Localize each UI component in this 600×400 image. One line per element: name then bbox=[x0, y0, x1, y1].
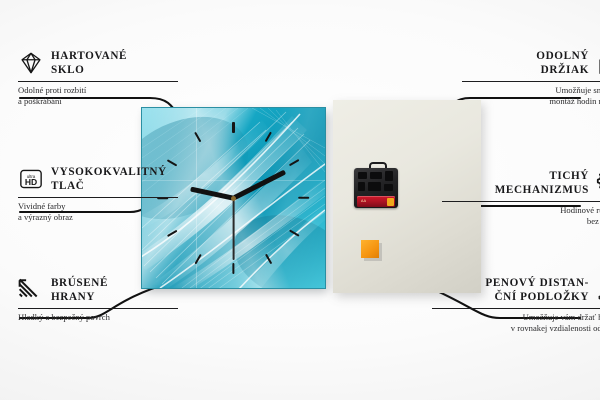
clock-mechanism: AA bbox=[354, 162, 398, 208]
feature-description: Hodinové ručičky bez zvuku bbox=[442, 205, 600, 228]
foam-pad-icon bbox=[596, 277, 600, 303]
battery-label: AA bbox=[361, 199, 366, 203]
beveled-edge-icon bbox=[18, 277, 44, 303]
mechanism-slot bbox=[370, 172, 382, 179]
picture-hanger-icon bbox=[596, 50, 600, 76]
divider bbox=[462, 81, 600, 82]
feature-durable-hanger: ODOLNÝ DRŽIAK Umožňuje snadnou montáž ho… bbox=[462, 50, 600, 108]
infographic-canvas: AA HARTOVANÉ SKLO bbox=[0, 0, 600, 400]
feature-title: VYSOKOKVALITNÝ TLAČ bbox=[51, 166, 167, 193]
divider bbox=[18, 308, 178, 309]
feature-description: Hladký a bezpečný povrch bbox=[18, 312, 178, 323]
divider bbox=[442, 201, 600, 202]
divider bbox=[432, 308, 600, 309]
feature-description: Umožňuje snadnou montáž hodin na zeď bbox=[462, 85, 600, 108]
diamond-icon bbox=[18, 50, 44, 76]
mechanism-slot bbox=[385, 171, 393, 181]
foam-spacer-pad bbox=[361, 240, 379, 258]
mechanism-slot bbox=[358, 182, 365, 191]
mechanism-housing: AA bbox=[354, 168, 398, 208]
feature-tempered-glass: HARTOVANÉ SKLO Odolné proti rozbití a po… bbox=[18, 50, 178, 108]
feature-description: Odolné proti rozbití a poškrábání bbox=[18, 85, 178, 108]
divider bbox=[18, 197, 178, 198]
feature-silent-mechanism: TICHÝ MECHANIZMUS Hodinové ručičky bez z… bbox=[442, 170, 600, 228]
feature-title: ODOLNÝ DRŽIAK bbox=[462, 50, 589, 77]
mechanism-slot bbox=[358, 172, 367, 179]
clock-second-hand bbox=[233, 198, 235, 260]
mechanism-slot bbox=[384, 184, 393, 191]
ultra-hd-icon: ultra HD bbox=[18, 166, 44, 192]
gear-icon bbox=[596, 170, 600, 196]
feature-title: HARTOVANÉ SKLO bbox=[51, 50, 127, 77]
feature-foam-spacers: PENOVÝ DISTAN- ČNÍ PODLOŽKY Umožňuje vám… bbox=[432, 277, 600, 335]
battery-plus-terminal bbox=[387, 198, 394, 206]
clock-center-cap bbox=[231, 196, 236, 201]
battery: AA bbox=[357, 196, 395, 207]
feature-beveled-edges: BRÚSENÉ HRANY Hladký a bezpečný povrch bbox=[18, 277, 178, 323]
feature-title: PENOVÝ DISTAN- ČNÍ PODLOŽKY bbox=[432, 277, 589, 304]
hour-marker bbox=[232, 263, 234, 274]
feature-title: BRÚSENÉ HRANY bbox=[51, 277, 108, 304]
feature-description: Umožňuje vám držať hodiny v rovnakej vzd… bbox=[432, 312, 600, 335]
feature-high-quality-print: ultra HD VYSOKOKVALITNÝ TLAČ Vividné far… bbox=[18, 166, 178, 224]
feature-description: Vividné farby a výrazný obraz bbox=[18, 201, 178, 224]
mechanism-slot bbox=[368, 182, 381, 191]
divider bbox=[18, 81, 178, 82]
feature-title: TICHÝ MECHANIZMUS bbox=[442, 170, 589, 197]
svg-text:HD: HD bbox=[25, 177, 37, 187]
